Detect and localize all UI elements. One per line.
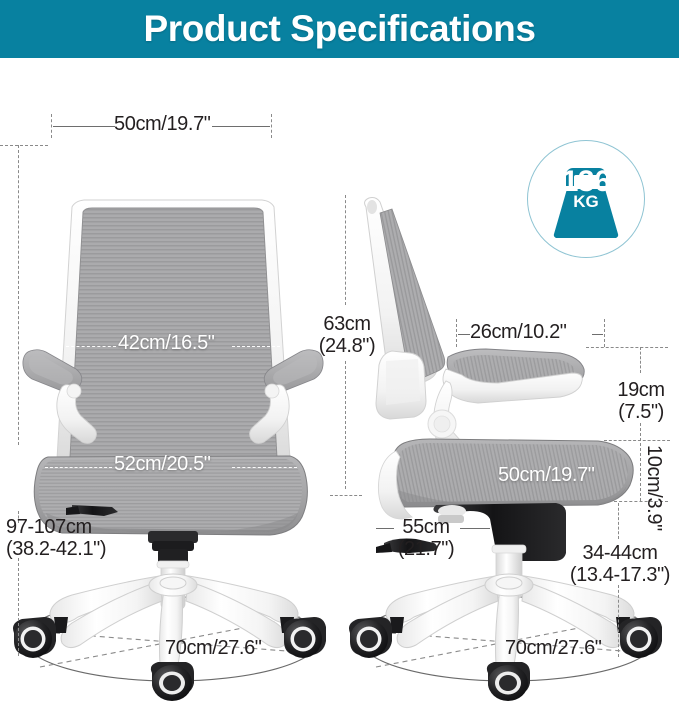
label-side-base-depth: 55cm (21.7") bbox=[386, 516, 466, 561]
label-front-overall-height-in: (38.2-42.1") bbox=[6, 538, 106, 560]
weight-capacity-badge: 136 KG bbox=[527, 140, 645, 258]
dimline-backrest-height-upper bbox=[345, 195, 346, 305]
dimline-front-height-bottom bbox=[18, 558, 19, 656]
dimline-backrest-width-a bbox=[66, 346, 116, 347]
label-front-seat-width: 52cm/20.5" bbox=[114, 454, 211, 476]
ext-side-seatline-left bbox=[330, 495, 362, 496]
label-front-overall-height-cm: 97-107cm bbox=[6, 516, 106, 538]
chair-base-side bbox=[386, 574, 634, 677]
chair-side-view-graphic bbox=[349, 198, 662, 702]
label-side-seat-thickness: 10cm/3.9" bbox=[642, 445, 664, 531]
ext-front-height-top bbox=[0, 145, 48, 146]
chair-base-front bbox=[50, 574, 298, 677]
dimline-front-height-upper bbox=[18, 145, 19, 445]
ext-armrest-height-top bbox=[586, 347, 668, 348]
label-side-seat-height-cm: 34-44cm bbox=[563, 542, 677, 564]
label-side-seat-depth: 50cm/19.7" bbox=[498, 465, 595, 487]
dimline-seat-width-b bbox=[232, 467, 297, 468]
label-side-backrest-height: 63cm (24.8") bbox=[318, 313, 376, 358]
weight-unit: KG bbox=[528, 193, 644, 210]
label-side-seat-height: 34-44cm (13.4-17.3") bbox=[563, 542, 677, 587]
label-side-backrest-height-in: (24.8") bbox=[318, 335, 376, 357]
label-side-backrest-height-cm: 63cm bbox=[318, 313, 376, 335]
dimline-seat-height-upper bbox=[618, 503, 619, 539]
dimline-front-width-a bbox=[53, 126, 115, 127]
dimline-armrest-b bbox=[592, 334, 603, 335]
tick-front-width-left bbox=[51, 114, 52, 138]
dimline-armrest-height-lower bbox=[640, 423, 641, 441]
label-side-armrest-height-cm: 19cm bbox=[609, 379, 673, 401]
label-front-backrest-width: 42cm/16.5" bbox=[118, 333, 215, 355]
dimline-backrest-width-b bbox=[232, 346, 280, 347]
label-side-armrest-length: 26cm/10.2" bbox=[470, 322, 567, 344]
tick-armrest-right bbox=[604, 319, 605, 347]
tick-armrest-left bbox=[456, 319, 457, 347]
page-title: Product Specifications bbox=[143, 8, 535, 50]
label-side-base-depth-cm: 55cm bbox=[386, 516, 466, 538]
dimline-seat-thickness bbox=[640, 443, 641, 501]
label-front-base-diameter: 70cm/27.6" bbox=[165, 638, 262, 660]
ext-seat-top-right bbox=[604, 440, 670, 441]
chair-front-view-graphic bbox=[13, 200, 326, 701]
page-header: Product Specifications bbox=[0, 0, 679, 58]
tick-front-width-right bbox=[271, 114, 272, 138]
label-side-base-depth-in: (21.7") bbox=[386, 538, 466, 560]
dimline-seat-height-lower bbox=[618, 585, 619, 657]
dimline-front-width-b bbox=[212, 126, 270, 127]
dimline-seat-width-a bbox=[45, 467, 112, 468]
label-front-overall-width: 50cm/19.7" bbox=[114, 114, 211, 136]
dimline-armrest-a bbox=[458, 334, 470, 335]
label-side-seat-height-in: (13.4-17.3") bbox=[563, 564, 677, 586]
specification-diagram: 136 KG 50cm/19.7" 42cm/16.5" 52cm/20.5" … bbox=[0, 61, 679, 656]
dimline-backrest-height-lower bbox=[345, 361, 346, 489]
dimline-armrest-height-upper bbox=[640, 347, 641, 373]
label-front-overall-height: 97-107cm (38.2-42.1") bbox=[6, 516, 106, 561]
label-side-armrest-height-in: (7.5") bbox=[609, 401, 673, 423]
label-side-armrest-height: 19cm (7.5") bbox=[609, 379, 673, 424]
label-side-base-diameter: 70cm/27.6" bbox=[505, 638, 602, 660]
